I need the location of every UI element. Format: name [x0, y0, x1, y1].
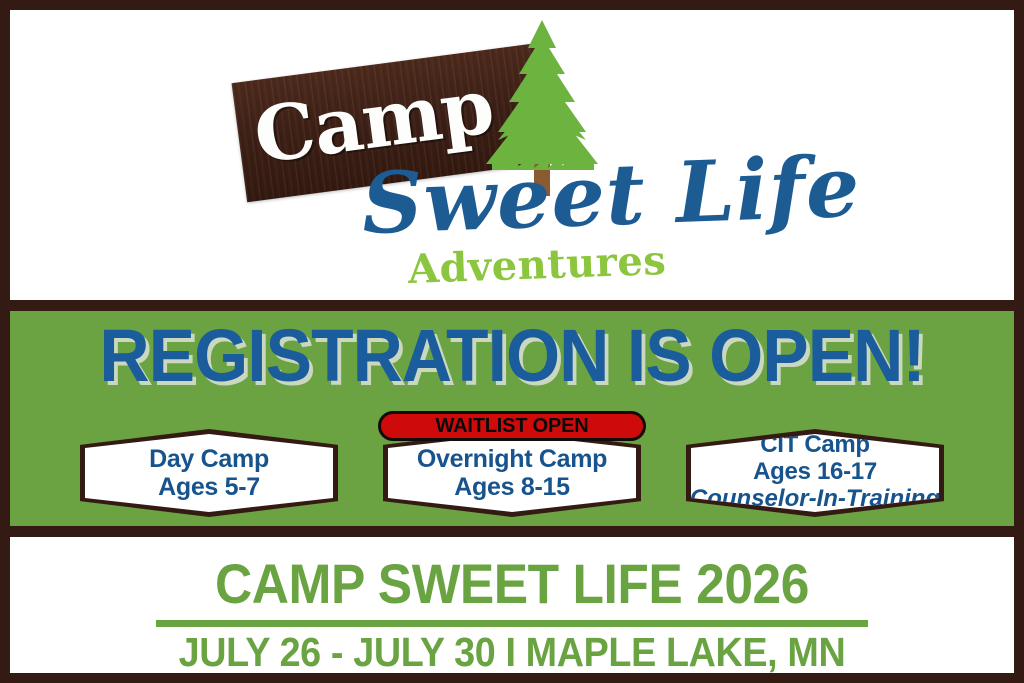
camp-options-row: Day Camp Ages 5-7 WAITLIST OPEN Overnigh…	[10, 411, 1014, 523]
camp-sweet-life-logo: Camp Sweet Life Adventures	[10, 10, 1014, 300]
event-title: CAMP SWEET LIFE 2026	[50, 555, 974, 614]
page-title: REGISTRATION IS OPEN!	[40, 317, 984, 395]
camp-ages: Ages 8-15	[454, 473, 569, 501]
camp-note: Counselor-In-Training	[690, 485, 940, 514]
event-dates-location: JULY 26 - JULY 30 I MAPLE LAKE, MN	[50, 631, 974, 674]
event-details-section: CAMP SWEET LIFE 2026 JULY 26 - JULY 30 I…	[10, 537, 1014, 673]
camp-ages: Ages 5-7	[158, 473, 260, 501]
divider-bottom	[10, 526, 1014, 537]
camp-name: CIT Camp	[760, 432, 870, 459]
camp-ages: Ages 16-17	[753, 459, 877, 486]
logo-section: Camp Sweet Life Adventures	[10, 10, 1014, 300]
camp-option-cit-camp-inner: CIT Camp Ages 16-17 Counselor-In-Trainin…	[691, 434, 939, 512]
camp-option-day-camp[interactable]: Day Camp Ages 5-7	[80, 429, 338, 517]
logo-tagline: Adventures	[407, 241, 667, 290]
status-badge-waitlist: WAITLIST OPEN	[378, 411, 646, 441]
camp-name: Day Camp	[149, 445, 269, 473]
registration-poster: Camp Sweet Life Adventures REGISTRATION …	[0, 0, 1024, 683]
footer-divider-rule	[156, 620, 868, 627]
camp-option-day-camp-inner: Day Camp Ages 5-7	[85, 434, 333, 512]
registration-banner: REGISTRATION IS OPEN! Day Camp Ages 5-7 …	[10, 311, 1014, 526]
camp-name: Overnight Camp	[417, 445, 607, 473]
camp-option-cit-camp[interactable]: CIT Camp Ages 16-17 Counselor-In-Trainin…	[686, 429, 944, 517]
camp-option-overnight-camp-inner: Overnight Camp Ages 8-15	[388, 434, 636, 512]
camp-option-overnight-camp[interactable]: Overnight Camp Ages 8-15	[383, 429, 641, 517]
divider-top	[10, 300, 1014, 311]
logo-script-wordmark: Sweet Life	[361, 145, 862, 246]
